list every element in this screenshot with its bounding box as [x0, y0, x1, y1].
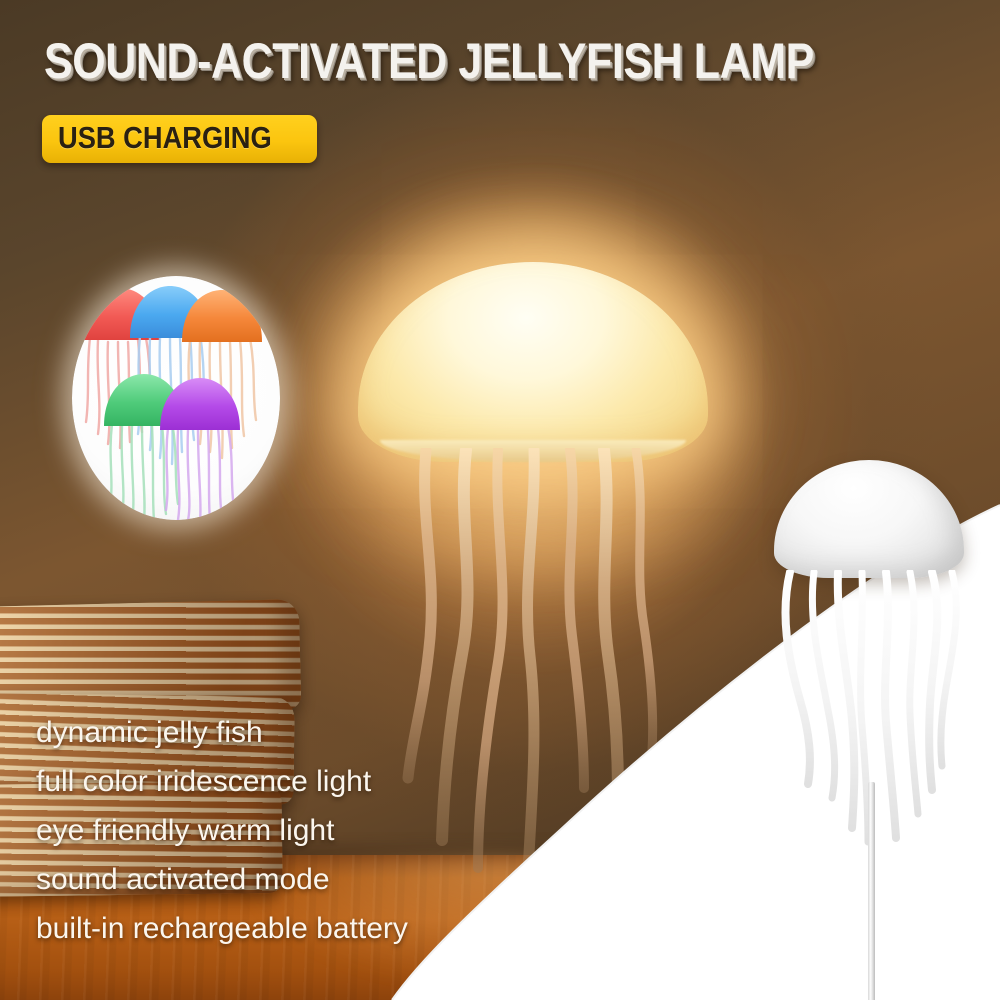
feature-item: dynamic jelly fish	[36, 718, 556, 748]
color-options-inset	[72, 276, 280, 520]
feature-item: eye friendly warm light	[36, 816, 556, 846]
feature-list: dynamic jelly fish full color iridescenc…	[36, 718, 556, 963]
usb-charging-badge: USB CHARGING	[42, 115, 317, 163]
usb-charging-badge-label: USB CHARGING	[58, 120, 272, 156]
feature-item: sound activated mode	[36, 865, 556, 895]
feature-item: built-in rechargeable battery	[36, 914, 556, 944]
white-product-photo	[762, 452, 982, 992]
page-title: SOUND-ACTIVATED JELLYFISH LAMP	[44, 32, 814, 90]
feature-item: full color iridescence light	[36, 767, 556, 797]
product-jellyfish-dome	[774, 460, 964, 578]
product-stand-rod	[868, 782, 875, 1000]
product-advertisement-banner: SOUND-ACTIVATED JELLYFISH LAMP USB CHARG…	[0, 0, 1000, 1000]
